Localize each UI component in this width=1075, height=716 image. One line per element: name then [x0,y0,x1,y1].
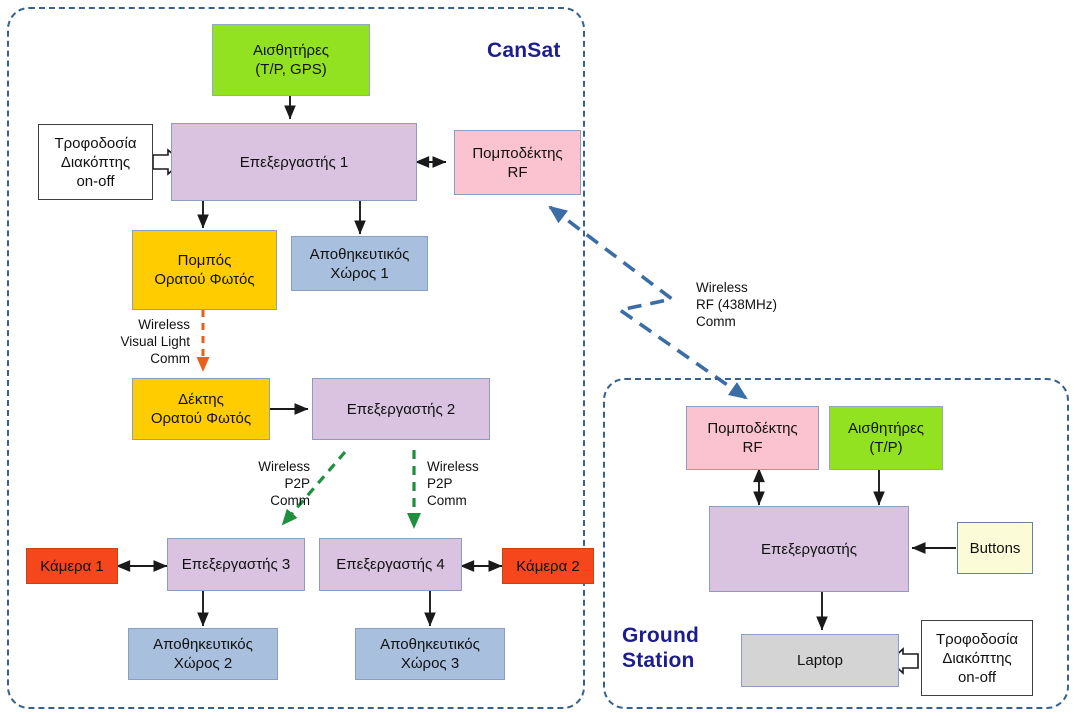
node-cansat-processor4[interactable]: Επεξεργαστής 4 [319,538,462,591]
node-cansat-vl-transmitter[interactable]: Πομπός Ορατού Φωτός [132,230,277,310]
node-cansat-power[interactable]: Τροφοδοσία Διακόπτης on-off [38,124,153,200]
label-visual-light-comm: Wireless Visual Light Comm [85,316,190,367]
node-cansat-rf-transceiver[interactable]: Πομποδέκτης RF [454,130,581,195]
node-cansat-processor1[interactable]: Επεξεργαστής 1 [171,123,417,201]
node-gs-sensors[interactable]: Αισθητήρες (T/P) [829,406,943,470]
group-cansat-label: CanSat [487,38,561,63]
group-ground-station-label: Ground Station [622,623,699,673]
node-cansat-processor2[interactable]: Επεξεργαστής 2 [312,378,490,440]
node-cansat-camera1[interactable]: Κάμερα 1 [26,548,118,584]
label-p2p-comm-left: Wireless P2P Comm [225,458,310,509]
node-gs-laptop[interactable]: Laptop [741,634,899,687]
node-gs-power[interactable]: Τροφοδοσία Διακόπτης on-off [921,620,1033,696]
node-cansat-camera2[interactable]: Κάμερα 2 [502,548,594,584]
node-gs-processor[interactable]: Επεξεργαστής [709,506,909,592]
diagram-canvas: CanSat Αισθητήρες (T/P, GPS) Τροφοδοσία … [0,0,1075,716]
label-p2p-comm-right: Wireless P2P Comm [427,458,522,509]
node-cansat-storage1[interactable]: Αποθηκευτικός Χώρος 1 [291,236,428,291]
node-cansat-storage3[interactable]: Αποθηκευτικός Χώρος 3 [355,628,505,680]
node-cansat-storage2[interactable]: Αποθηκευτικός Χώρος 2 [128,628,278,680]
node-gs-buttons[interactable]: Buttons [957,522,1033,574]
node-cansat-vl-receiver[interactable]: Δέκτης Ορατού Φωτός [132,378,270,440]
node-cansat-sensors[interactable]: Αισθητήρες (T/P, GPS) [212,24,370,96]
label-rf-comm: Wireless RF (438MHz) Comm [696,279,826,330]
node-cansat-processor3[interactable]: Επεξεργαστής 3 [167,538,305,591]
node-gs-rf-transceiver[interactable]: Πομποδέκτης RF [686,406,819,470]
